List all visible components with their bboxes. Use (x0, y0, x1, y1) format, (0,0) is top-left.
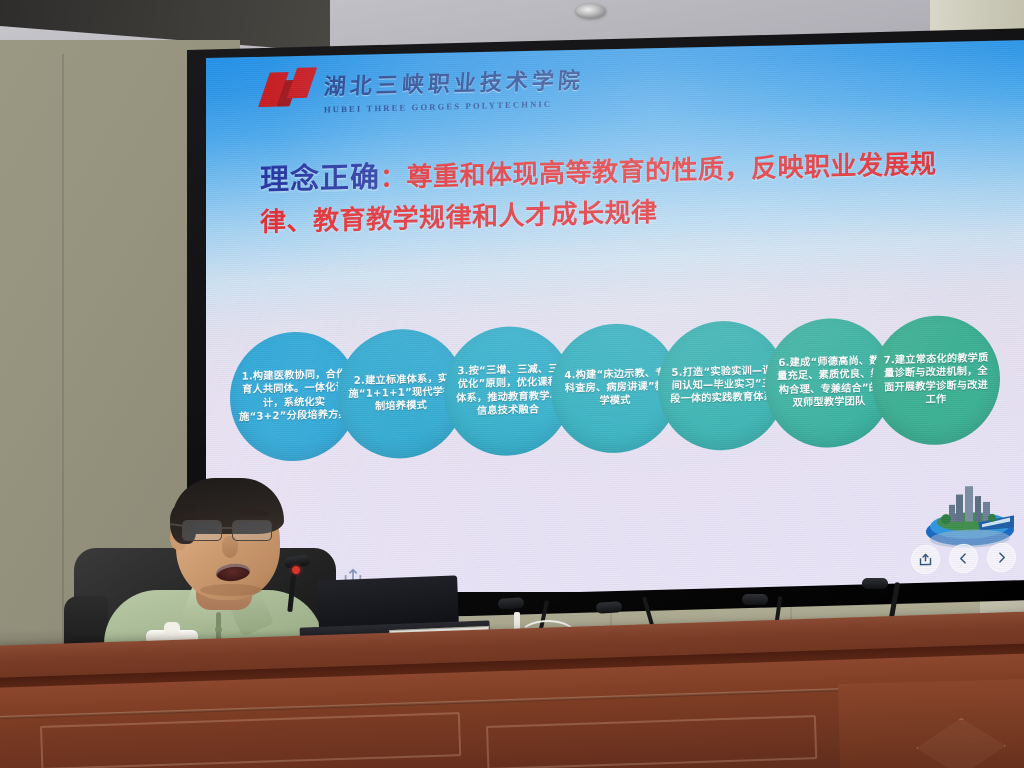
glasses-lens-left (182, 520, 222, 541)
bubble-item[interactable]: 7.建立常态化的教学质量诊断与改进机制，全面开展教学诊断与改进工作 (872, 314, 1000, 446)
bubble-text: 7.建立常态化的教学质量诊断与改进机制，全面开展教学诊断与改进工作 (881, 352, 991, 408)
headline-lead: 理念正确 (260, 159, 380, 196)
ceiling-downlight-icon (576, 4, 606, 18)
laptop-lid (317, 575, 459, 628)
school-brand: 湖北三峡职业技术学院 HUBEI THREE GORGES POLYTECHNI… (264, 61, 584, 116)
bubble-text: 4.构建“床边示教、专科查房、病房讲课”教学模式 (560, 366, 670, 409)
projection-screen[interactable]: 湖北三峡职业技术学院 HUBEI THREE GORGES POLYTECHNI… (202, 40, 1024, 592)
bubble-row: 1.构建医教协同，合作育人共同体。一体化设计，系统化实施“3+2”分段培养方案 … (230, 289, 1020, 485)
next-slide-button[interactable] (987, 543, 1016, 573)
slide-headline: 理念正确：尊重和体现高等教育的性质，反映职业发展规律、教育教学规律和人才成长规律 (260, 139, 980, 243)
speaker-nose (222, 536, 238, 558)
microphone-head (498, 597, 525, 610)
headline-separator: ： (380, 163, 407, 194)
share-button[interactable] (911, 544, 940, 574)
school-logo-icon (264, 67, 314, 111)
chevron-left-icon (957, 552, 970, 565)
bubble-text: 3.按“三增、三减、三优化”原则，优化课程体系，推动教育教学与信息技术融合 (453, 362, 563, 418)
glasses-bridge (222, 527, 232, 529)
microphone-head (742, 594, 768, 605)
slide-nav-controls[interactable] (911, 543, 1016, 575)
presentation-slide[interactable]: 湖北三峡职业技术学院 HUBEI THREE GORGES POLYTECHNI… (202, 40, 1024, 592)
bubble-text: 5.打造“实验实训—课间认知—毕业实习”三段一体的实践教育体系 (667, 364, 777, 407)
prev-slide-button[interactable] (949, 544, 978, 574)
conference-room-scene: 湖北三峡职业技术学院 HUBEI THREE GORGES POLYTECHNI… (0, 0, 1024, 768)
speaker-chin-shadow (200, 584, 262, 596)
glasses-lens-right (232, 520, 272, 541)
wall-seam (62, 54, 64, 694)
chevron-right-icon (995, 551, 1008, 564)
share-icon (918, 552, 933, 567)
city-island-artwork-icon (922, 477, 1018, 552)
microphone-head (862, 578, 888, 589)
microphone-indicator-icon (292, 566, 300, 574)
bubble-text: 2.建立标准体系，实施“1+1+1”现代学徒制培养模式 (346, 372, 456, 415)
bubble-text: 6.建成“师德高尚、数量充足、素质优良、结构合理、专兼结合”的双师型教学团队 (774, 354, 884, 410)
microphone-head (596, 601, 623, 614)
bubble-text: 1.构建医教协同，合作育人共同体。一体化设计，系统化实施“3+2”分段培养方案 (239, 368, 349, 424)
school-name-cn: 湖北三峡职业技术学院 (323, 63, 585, 102)
